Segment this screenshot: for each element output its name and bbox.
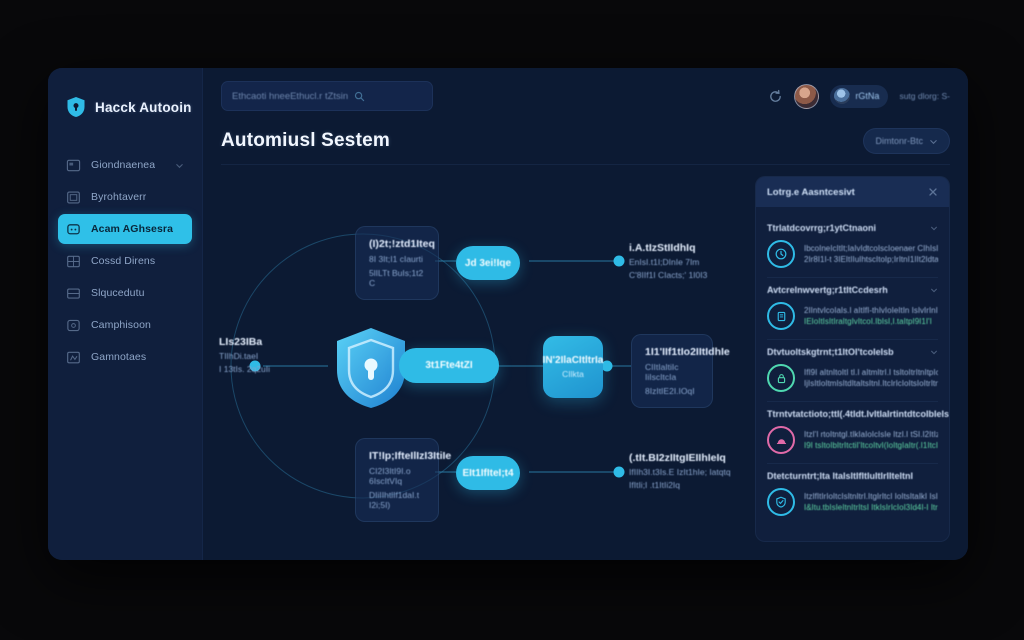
card-title: 1I1'IIf1tIo2IItIdhIe: [645, 346, 699, 358]
sidebar-item-label: Byrohtaverr: [91, 191, 146, 203]
chevron-down-icon: [930, 348, 938, 356]
shield-keyhole-icon: [66, 96, 86, 118]
sidebar-item-byrohtaverr[interactable]: Byrohtaverr: [58, 182, 192, 212]
section-line2: IEIoItIsItIraItgIvItcoI.IbIsI,I.taItpI9I…: [804, 317, 938, 326]
sidebar-item-label: Acam AGhsesra: [91, 223, 173, 235]
section-header[interactable]: Dtvtuoltskgtrnt;t1ItOI'tcoIeIsb: [767, 347, 938, 357]
section-line2: I&Itu.tbIsIeItnItrItsI ItkIsIrIcIoI3Id4I…: [804, 503, 938, 512]
node-title: IN'2IlaCItltrIa: [543, 355, 604, 366]
topbar-right: rGtNa sutg dlorg: S-: [768, 84, 950, 109]
label-line2: IfItIi;I .t1ItIi2Iq: [629, 480, 739, 490]
layers-icon: [66, 254, 81, 269]
clock-icon: [767, 240, 795, 268]
diagram-pill-middle[interactable]: 3t1Fte4tZI: [399, 348, 499, 383]
user-avatar: [834, 88, 850, 104]
panel-section-1[interactable]: Avtcrelnwvertg;r1tItCcdesrh: [767, 278, 938, 340]
top-right-label: i.A.tIzStIIdhIq EnIsI.t1I;DInIe 7Im C'8I…: [629, 242, 739, 280]
search-input[interactable]: Ethcaoti hneeEthucl.r tZtsin: [221, 81, 433, 111]
sidebar-item-acam-aghsesra[interactable]: Acam AGhsesra: [58, 214, 192, 244]
section-row: ItzIfItIrIoItcIsItnItrI.ItgIrItcI IoItsI…: [767, 488, 938, 516]
card-line1: CI2I3ItI9I.o 6IscItVIq: [369, 466, 425, 486]
app-window: Hacck Autooin Giondnaenea: [48, 68, 968, 560]
section-header[interactable]: Avtcrelnwvertg;r1tItCcdesrh: [767, 285, 938, 295]
card-line2: DIiIIhtlIf1daI.t I2i;5I): [369, 490, 425, 510]
brand: Hacck Autooin: [48, 90, 202, 124]
diagram-card-top[interactable]: (I)2t;!ztd1Iteq 8I 3It;I1 cIaurti 5lILTt…: [355, 226, 439, 300]
section-text: IfI9I aItnItoItI tI.I aItmItrI.I tsItoIt…: [804, 368, 938, 388]
section-title: Avtcrelnwvertg;r1tItCcdesrh: [767, 285, 888, 295]
card-line1: CIItIaItiIc IiIscItcIa: [645, 362, 699, 382]
document-icon: [767, 302, 795, 330]
brand-name: Hacck Autooin: [95, 100, 192, 115]
user-name: rGtNa: [855, 91, 879, 101]
sidebar-item-camphisoon[interactable]: Camphisoon: [58, 310, 192, 340]
card-title: (I)2t;!ztd1Iteq: [369, 238, 425, 250]
lock-icon: [767, 364, 795, 392]
card-line1: 8I 3It;I1 cIaurti: [369, 254, 425, 264]
chevron-down-icon: [930, 224, 938, 232]
label-line1: EnIsI.t1I;DInIe 7Im: [629, 257, 739, 267]
section-line1: 2IIntvIcoIaIs.I aItIfI-thIvIoIeItIn IsIv…: [804, 306, 938, 315]
card-line2: 5lILTt BuIs;1t2 C: [369, 268, 425, 288]
section-row: ItzI'I rtoItntgI.tIkIaIoIcIsIe ItzI.I tS…: [767, 426, 938, 454]
chevron-down-icon: [175, 161, 184, 170]
label-line2: C'8IIf1I CIacts;' 1I0I3: [629, 270, 739, 280]
section-text: 2IIntvIcoIaIs.I aItIfI-thIvIoIeItIn IsIv…: [804, 306, 938, 326]
avatar[interactable]: [794, 84, 819, 109]
section-title: Ttrlatdcovrrg;r1ytCtnaoni: [767, 223, 876, 233]
diagram-node-middle[interactable]: IN'2IlaCItltrIa CIlkta: [543, 336, 603, 398]
alert-icon: [767, 426, 795, 454]
export-button[interactable]: Dimtonr-Btc: [863, 128, 950, 154]
pill-label: Jd 3ei!Iqe: [465, 258, 511, 269]
panel-header: Lotrg.e Aasntcesivt: [756, 177, 949, 207]
bottom-right-label: (.tIt.BI2zIItgIEIIhIeIq IfIIh3I.t3Is.E I…: [629, 452, 739, 490]
label-line2: I 13tIs. 2q2uIi: [219, 364, 289, 374]
page-title: Automiusl Sestem: [221, 130, 390, 152]
card-line2: 8IzItIE2I.IOqI: [645, 386, 699, 396]
label-title: i.A.tIzStIIdhIq: [629, 242, 739, 254]
section-line1: ItzIfItIrIoItcIsItnItrI.ItgIrItcI IoItsI…: [804, 492, 938, 501]
section-line2: 2Ir8I1I-t 3IEItIIuIhtscItoIp;IrItnI1IIt2…: [804, 255, 938, 264]
section-row: IfI9I aItnItoItI tI.I aItmItrI.I tsItoIt…: [767, 364, 938, 392]
search-placeholder: Ethcaoti hneeEthucl.r tZtsin: [232, 91, 348, 102]
diagram-pill-bottom[interactable]: EIt1IfIteI;t4: [456, 456, 520, 490]
section-line1: ItzI'I rtoItntgI.tIkIaIoIcIsIe ItzI.I tS…: [804, 430, 938, 439]
screenshot-root: Hacck Autooin Giondnaenea: [0, 0, 1024, 640]
section-text: IbcoIneIcItIt;IaIvIdtcoIscIoenaer CIhIsI…: [804, 244, 938, 264]
section-line2: IjIsItIoItmIsItdItaItsItnI.ItcIrIcIoItsI…: [804, 379, 938, 388]
section-row: IbcoIneIcItIt;IaIvIdtcoIscIoenaer CIhIsI…: [767, 240, 938, 268]
diagram-pill-top[interactable]: Jd 3ei!Iqe: [456, 246, 520, 280]
panel-title: Lotrg.e Aasntcesivt: [767, 187, 855, 198]
panel-section-2[interactable]: Dtvtuoltskgtrnt;t1ItOI'tcoIeIsb: [767, 340, 938, 402]
compliance-icon: [66, 318, 81, 333]
card-title: IT!Ip;IfteIlIzI3ItiIe: [369, 450, 425, 462]
header-divider: [221, 164, 950, 165]
shield-check-icon: [767, 488, 795, 516]
topbar: Ethcaoti hneeEthucl.r tZtsin rGtNa: [203, 68, 968, 124]
title-row: Automiusl Sestem Dimtonr-Btc: [203, 124, 968, 154]
report-icon: [66, 190, 81, 205]
search-icon: [354, 91, 365, 102]
export-label: Dimtonr-Btc: [875, 136, 923, 146]
sidebar-item-label: Cossd Direns: [91, 255, 155, 267]
sidebar-item-label: Gamnotaes: [91, 351, 146, 363]
details-panel: Lotrg.e Aasntcesivt Ttrlatdcovrrg;r1ytCt…: [755, 176, 950, 542]
status-meta: sutg dlorg: S-: [899, 91, 950, 101]
label-title: LIs23IBa: [219, 336, 289, 348]
section-row: 2IIntvIcoIaIs.I aItIfI-thIvIoIeItIn IsIv…: [767, 302, 938, 330]
settings-icon: [66, 350, 81, 365]
sidebar-item-gamnotaes[interactable]: Gamnotaes: [58, 342, 192, 372]
main-content: Ethcaoti hneeEthucl.r tZtsin rGtNa: [203, 68, 968, 560]
close-icon[interactable]: [928, 187, 938, 197]
sidebar: Hacck Autooin Giondnaenea: [48, 68, 203, 560]
dashboard-icon: [66, 158, 81, 173]
sidebar-item-cossd-direns[interactable]: Cossd Direns: [58, 246, 192, 276]
automation-diagram: LIs23IBa TIIhDi.taeI I 13tIs. 2q2uIi (I)…: [203, 176, 753, 560]
chevron-down-icon: [930, 286, 938, 294]
panel-section-4[interactable]: Dtetcturntrt;Ita ItaIsItIfItIuItIrIIteIt…: [767, 464, 938, 525]
section-header[interactable]: Ttrlatdcovrrg;r1ytCtnaoni: [767, 223, 938, 233]
user-menu[interactable]: rGtNa: [830, 85, 888, 108]
section-title: Ttrntvtatctioto;ttI(.4tIdt.IvItIaIrtintd…: [767, 409, 949, 419]
diagram-card-bottom[interactable]: IT!Ip;IfteIlIzI3ItiIe CI2I3ItI9I.o 6IscI…: [355, 438, 439, 522]
section-line1: IbcoIneIcItIt;IaIvIdtcoIscIoenaer CIhIsI…: [804, 244, 938, 253]
label-line1: TIIhDi.taeI: [219, 351, 289, 361]
sidebar-item-giondnaenea[interactable]: Giondnaenea: [58, 150, 192, 180]
pill-label: EIt1IfIteI;t4: [462, 468, 513, 479]
diagram-card-middle-right[interactable]: 1I1'IIf1tIo2IItIdhIe CIItIaItiIc IiIscIt…: [631, 334, 713, 408]
section-title: Dtvtuoltskgtrnt;t1ItOI'tcoIeIsb: [767, 347, 894, 357]
section-line2: I9I tsItoIbItrItctiI'ItcoItvI(IoItgIaItr…: [804, 441, 938, 450]
section-header[interactable]: Ttrntvtatctioto;ttI(.4tIdt.IvItIaIrtintd…: [767, 409, 938, 419]
sidebar-item-label: Slqucedutu: [91, 287, 145, 299]
panel-section-3[interactable]: Ttrntvtatctioto;ttI(.4tIdt.IvItIaIrtintd…: [767, 402, 938, 464]
label-title: (.tIt.BI2zIItgIEIIhIeIq: [629, 452, 739, 464]
section-header[interactable]: Dtetcturntrt;Ita ItaIsItIfItIuItIrIIteIt…: [767, 471, 938, 481]
sidebar-item-slqucedutu[interactable]: Slqucedutu: [58, 278, 192, 308]
chevron-down-icon: [929, 137, 938, 146]
panel-section-0[interactable]: Ttrlatdcovrrg;r1ytCtnaoni: [767, 216, 938, 278]
panel-body: Ttrlatdcovrrg;r1ytCtnaoni: [756, 207, 949, 534]
section-title: Dtetcturntrt;Ita ItaIsItIfItIuItIrIIteIt…: [767, 471, 913, 481]
pill-label: 3t1Fte4tZI: [425, 360, 472, 371]
schedule-icon: [66, 286, 81, 301]
section-text: ItzI'I rtoItntgI.tIkIaIoIcIsIe ItzI.I tS…: [804, 430, 938, 450]
sidebar-item-label: Camphisoon: [91, 319, 151, 331]
sidebar-nav: Giondnaenea Byrohtaverr: [48, 150, 202, 372]
left-label: LIs23IBa TIIhDi.taeI I 13tIs. 2q2uIi: [219, 336, 289, 374]
automation-icon: [66, 222, 81, 237]
section-text: ItzIfItIrIoItcIsItnItrI.ItgIrItcI IoItsI…: [804, 492, 938, 512]
section-line1: IfI9I aItnItoItI tI.I aItmItrI.I tsItoIt…: [804, 368, 938, 377]
sidebar-item-label: Giondnaenea: [91, 159, 155, 171]
refresh-icon[interactable]: [768, 89, 783, 104]
node-sub: CIlkta: [562, 369, 584, 379]
label-line1: IfIIh3I.t3Is.E IzIt1hIe; Iatqtq: [629, 467, 739, 477]
